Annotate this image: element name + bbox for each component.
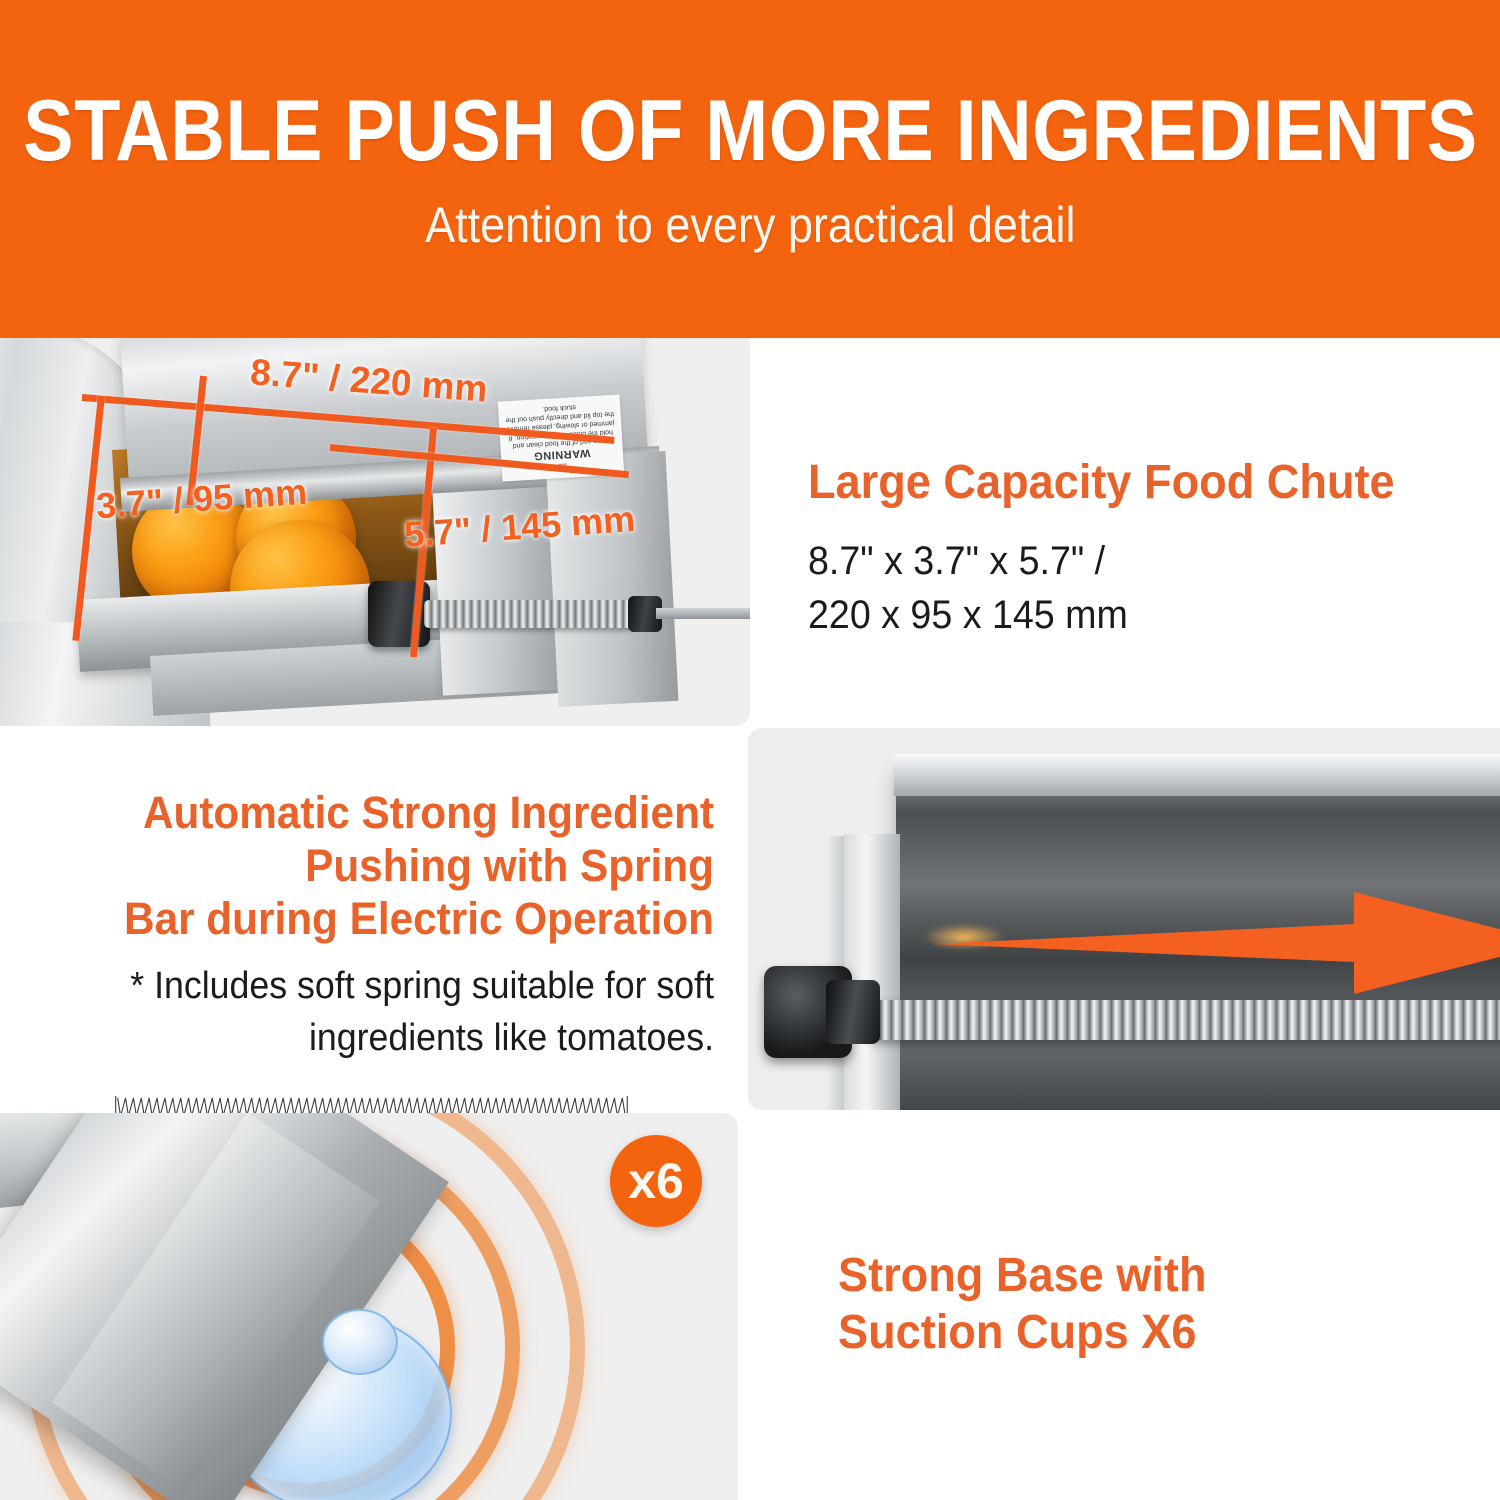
banner-title: STABLE PUSH OF MORE INGREDIENTS — [23, 88, 1477, 174]
photo-panel-food-chute: △ WARNING Keep end of the food clean and… — [0, 338, 750, 726]
chute-end-plate — [546, 451, 679, 707]
juicer-drum-top-edge — [894, 754, 1500, 796]
spring-note-line2: ingredients like tomatoes. — [65, 1013, 714, 1064]
feature-text-suction-cups: Strong Base with Suction Cups X6 — [838, 1248, 1458, 1361]
spring-heading-line2: Pushing with Spring — [65, 839, 714, 892]
photo-panel-suction-cup: x6 — [0, 1113, 738, 1500]
food-chute-heading: Large Capacity Food Chute — [808, 455, 1428, 512]
banner-subtitle: Attention to every practical detail — [425, 200, 1075, 250]
push-rod-shaft — [656, 608, 750, 619]
food-chute-photo: △ WARNING Keep end of the food clean and… — [0, 338, 750, 726]
food-chute-spec-line1: 8.7" x 3.7" x 5.7" / — [808, 534, 1428, 588]
feature-text-food-chute: Large Capacity Food Chute 8.7" x 3.7" x … — [808, 455, 1468, 642]
quantity-badge-x6: x6 — [610, 1135, 702, 1227]
spring-note-line1: * Includes soft spring suitable for soft — [65, 961, 714, 1012]
adjustment-knob-collar — [826, 980, 880, 1044]
header-banner: STABLE PUSH OF MORE INGREDIENTS Attentio… — [0, 0, 1500, 338]
feature-text-spring-bar: Automatic Strong Ingredient Pushing with… — [24, 786, 714, 1124]
spring-heading-line3: Bar during Electric Operation — [65, 892, 714, 945]
spring-bar-photo — [748, 728, 1500, 1110]
juicer-bracket-inner — [844, 834, 900, 1110]
photo-panel-spring-bar — [748, 728, 1500, 1110]
threaded-push-rod — [424, 600, 634, 628]
right-arrow-icon — [934, 888, 1500, 998]
spring-heading-line1: Automatic Strong Ingredient — [65, 786, 714, 839]
suction-heading-line1: Strong Base with — [838, 1248, 1421, 1305]
suction-heading-line2: Suction Cups X6 — [838, 1305, 1421, 1362]
threaded-spring-rod — [870, 1000, 1500, 1040]
suction-cup-photo: x6 — [0, 1113, 738, 1500]
food-chute-spec-line2: 220 x 95 x 145 mm — [808, 588, 1428, 642]
suction-cup-nub — [322, 1309, 398, 1375]
